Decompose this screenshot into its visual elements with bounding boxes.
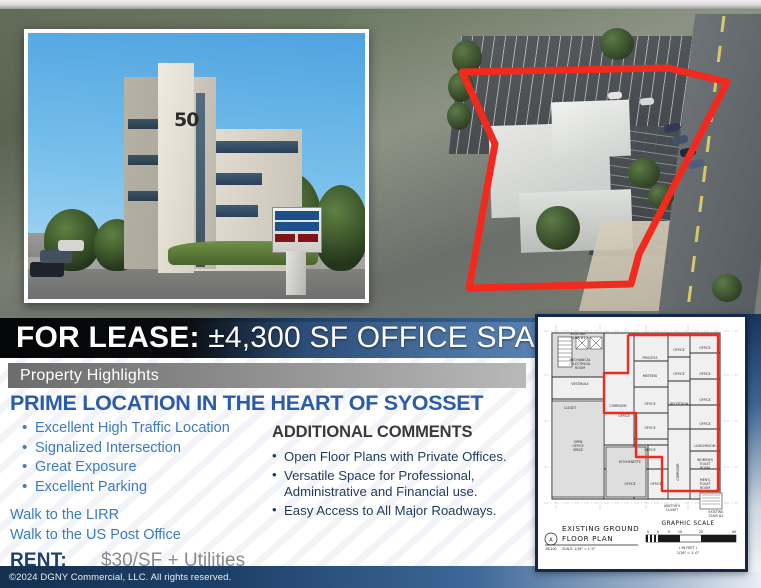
svg-text:SPACE: SPACE	[573, 448, 583, 452]
list-item: Versatile Space for Professional, Admini…	[272, 468, 526, 501]
svg-text:ROOM: ROOM	[700, 486, 710, 490]
svg-text:5: 5	[668, 530, 670, 534]
svg-text:STAIR #1: STAIR #1	[571, 336, 586, 340]
copyright-text: ©2024 DGNY Commercial, LLC. All rights r…	[0, 572, 231, 583]
walk-note: Walk to the US Post Office	[10, 525, 270, 545]
svg-text:SCALE: 1/16" = 1'-0": SCALE: 1/16" = 1'-0"	[562, 547, 596, 551]
right-edge-accent	[748, 314, 761, 572]
svg-text:SK-100: SK-100	[545, 547, 556, 551]
page-title: PRIME LOCATION IN THE HEART OF SYOSSET	[10, 391, 540, 416]
list-item: Excellent Parking	[22, 478, 272, 498]
svg-text:OFFICE: OFFICE	[699, 422, 710, 426]
list-item: Easy Access to All Major Roadways.	[272, 503, 526, 520]
walkability-notes: Walk to the LIRR Walk to the US Post Off…	[10, 505, 270, 545]
parked-car	[40, 250, 72, 263]
list-item: Signalized Intersection	[22, 439, 272, 459]
building-shadow	[124, 77, 158, 269]
svg-text:0: 0	[657, 530, 659, 534]
svg-text:OFFICE: OFFICE	[644, 448, 655, 452]
svg-text:OFFICE: OFFICE	[699, 346, 710, 350]
svg-text:( IN FEET ): ( IN FEET )	[679, 546, 697, 550]
svg-text:OFFICE: OFFICE	[624, 482, 635, 486]
floor-plan-drawing: EXISTINGSTAIR #1 MECHANICAL/ ELECTRICALR…	[538, 317, 745, 569]
svg-text:40: 40	[732, 530, 736, 534]
svg-text:A: A	[549, 537, 553, 543]
svg-text:10: 10	[678, 530, 682, 534]
lease-flyer: 50 FOR LEASE: ±4,300 SF OFFICE SPACES. P…	[0, 0, 761, 588]
svg-text:VESTIBULE: VESTIBULE	[571, 382, 588, 386]
property-highlights-bar: Property Highlights	[8, 363, 526, 388]
tree-icon	[314, 185, 368, 271]
svg-text:OFFICE: OFFICE	[644, 402, 655, 406]
list-item: Great Exposure	[22, 458, 272, 478]
svg-text:CORRIDOR: CORRIDOR	[676, 463, 680, 481]
sign-tenant-panel	[275, 222, 319, 231]
svg-text:OFFICE: OFFICE	[650, 482, 661, 486]
svg-text:ROOM: ROOM	[700, 466, 710, 470]
photo-area: 50	[0, 0, 761, 322]
monument-sign	[272, 207, 322, 253]
svg-text:CLOSET: CLOSET	[564, 406, 576, 410]
svg-text:OFFICE: OFFICE	[618, 414, 629, 418]
sign-tenant-panel	[275, 211, 319, 220]
list-item: Open Floor Plans with Private Offices.	[272, 449, 526, 466]
walk-note: Walk to the LIRR	[10, 505, 270, 525]
svg-text:PROCESS: PROCESS	[643, 356, 658, 360]
floor-plan-thumbnail: EXISTINGSTAIR #1 MECHANICAL/ ELECTRICALR…	[535, 314, 748, 572]
property-boundary-outline	[443, 48, 743, 310]
building-address-number: 50	[174, 109, 198, 131]
svg-text:OFFICE: OFFICE	[673, 348, 684, 352]
additional-comments-list: Open Floor Plans with Private Offices. V…	[272, 449, 526, 519]
highlights-list: Excellent High Traffic Location Signaliz…	[22, 419, 272, 497]
svg-text:MEETING: MEETING	[643, 374, 658, 378]
svg-text:KITCHENETTE: KITCHENETTE	[619, 460, 641, 464]
svg-text:FLOOR PLAN: FLOOR PLAN	[562, 534, 613, 543]
property-highlights-label: Property Highlights	[20, 367, 159, 385]
sign-base	[286, 251, 306, 295]
sign-led-display	[275, 234, 295, 242]
building-entry-tower	[158, 63, 194, 273]
svg-text:1/16" = 1'-0": 1/16" = 1'-0"	[677, 551, 700, 555]
for-lease-label: FOR LEASE:	[16, 321, 200, 354]
svg-text:CORRIDOR: CORRIDOR	[609, 404, 627, 408]
svg-text:STAIR #2: STAIR #2	[709, 514, 724, 518]
top-edge-strip	[0, 0, 761, 9]
svg-text:OFFICE: OFFICE	[699, 372, 710, 376]
list-item: Excellent High Traffic Location	[22, 419, 272, 439]
building-exterior-photo: 50	[24, 29, 369, 303]
additional-comments-section: ADDITIONAL COMMENTS Open Floor Plans wit…	[272, 423, 526, 521]
svg-text:OFFICE: OFFICE	[699, 398, 710, 402]
parked-car	[58, 240, 84, 251]
svg-text:LUNCHROOM: LUNCHROOM	[695, 444, 716, 448]
banner-headline: FOR LEASE: ±4,300 SF OFFICE SPACES.	[16, 321, 606, 355]
svg-text:5: 5	[647, 530, 649, 534]
svg-text:OFFICE: OFFICE	[673, 372, 684, 376]
svg-text:OFFICE: OFFICE	[644, 426, 655, 430]
svg-text:20: 20	[699, 530, 703, 534]
svg-text:GRAPHIC SCALE: GRAPHIC SCALE	[661, 520, 714, 527]
svg-text:ROOM: ROOM	[575, 366, 585, 370]
parked-car	[30, 262, 64, 277]
svg-text:CLOSET: CLOSET	[666, 508, 678, 512]
svg-text:RECEPTION: RECEPTION	[670, 402, 689, 406]
sign-led-display	[298, 234, 318, 242]
additional-comments-title: ADDITIONAL COMMENTS	[272, 423, 526, 442]
svg-text:EXISTING GROUND: EXISTING GROUND	[562, 524, 639, 533]
